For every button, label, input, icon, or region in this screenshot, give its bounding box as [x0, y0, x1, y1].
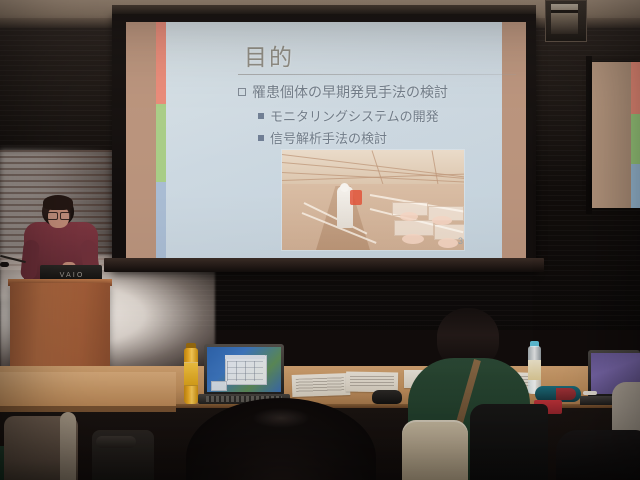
podium — [10, 283, 110, 375]
secondary-screen — [592, 62, 640, 208]
screen-bottom-bar — [104, 258, 544, 272]
secondary-color-bar-blue — [631, 164, 640, 208]
color-bar-blue — [156, 182, 166, 258]
glasses-lens-left — [47, 212, 58, 220]
slide-bullet-2: モニタリングシステムの開発 — [258, 106, 439, 125]
foreground-person-right — [556, 430, 640, 480]
white-pen — [583, 391, 597, 395]
empty-chair-back — [60, 412, 76, 480]
solid-square-icon — [258, 113, 264, 119]
slide-canvas: 目的 罹患個体の早期発見手法の検討 モニタリングシステムの開発 信号解析手法の検… — [166, 22, 502, 258]
hollow-square-icon — [238, 88, 246, 96]
slide-bullet-3-text: 信号解析手法の検討 — [270, 128, 387, 147]
barn-worker-red-object — [350, 190, 362, 205]
livestock — [400, 212, 418, 221]
color-bar-green — [156, 104, 166, 182]
slide-color-bar — [156, 22, 166, 258]
foreground-head-highlight — [252, 408, 310, 428]
microphone-head — [0, 262, 9, 267]
computer-mouse — [372, 390, 402, 404]
chair-armrest — [96, 436, 136, 448]
slide-title: 目的 — [244, 38, 294, 72]
water-bottle-label — [528, 360, 541, 380]
slide-bullet-2-text: モニタリングシステムの開発 — [270, 106, 439, 125]
chair-beige — [402, 420, 468, 480]
tea-bottle-label — [184, 362, 198, 386]
ceiling-projector-vent — [551, 10, 578, 13]
slide-bullet-1-text: 罹患個体の早期発見手法の検討 — [252, 82, 448, 102]
lecture-room-photo: 目的 罹患個体の早期発見手法の検討 モニタリングシステムの開発 信号解析手法の検… — [0, 0, 640, 480]
livestock — [438, 238, 458, 248]
livestock — [402, 234, 424, 244]
color-bar-red — [156, 22, 166, 104]
laptop-taskbar-tile — [211, 381, 227, 391]
paper-text-lines — [296, 377, 344, 393]
livestock — [432, 216, 452, 225]
projected-slide: 目的 罹患個体の早期発見手法の検討 モニタリングシステムの開発 信号解析手法の検… — [126, 22, 526, 258]
side-table — [0, 372, 176, 408]
paper-text-lines — [350, 376, 394, 388]
center-laptop-screen — [207, 347, 281, 392]
laptop-window-titlebar — [225, 355, 265, 359]
laptop-spreadsheet-grid — [227, 361, 263, 381]
ceiling-projector-lens — [551, 4, 578, 34]
laptop-brand-label: VAIO — [58, 271, 86, 279]
slide-bullet-3: 信号解析手法の検討 — [258, 128, 387, 147]
slide-page-number: 3 — [458, 236, 463, 246]
glasses-icon — [47, 212, 70, 218]
barn-worker-head — [340, 183, 349, 192]
side-table-edge — [0, 406, 176, 412]
secondary-color-bar-red — [631, 62, 640, 114]
pencil-case-red-section — [556, 388, 576, 400]
slide-embedded-photo — [282, 150, 464, 250]
slide-bullet-1: 罹患個体の早期発見手法の検討 — [238, 82, 448, 102]
presenter-hair — [43, 195, 73, 210]
slide-title-rule — [238, 74, 516, 75]
secondary-color-bar-green — [631, 114, 640, 164]
glasses-lens-right — [60, 212, 71, 220]
solid-square-icon — [258, 135, 264, 141]
black-bag — [470, 404, 548, 480]
